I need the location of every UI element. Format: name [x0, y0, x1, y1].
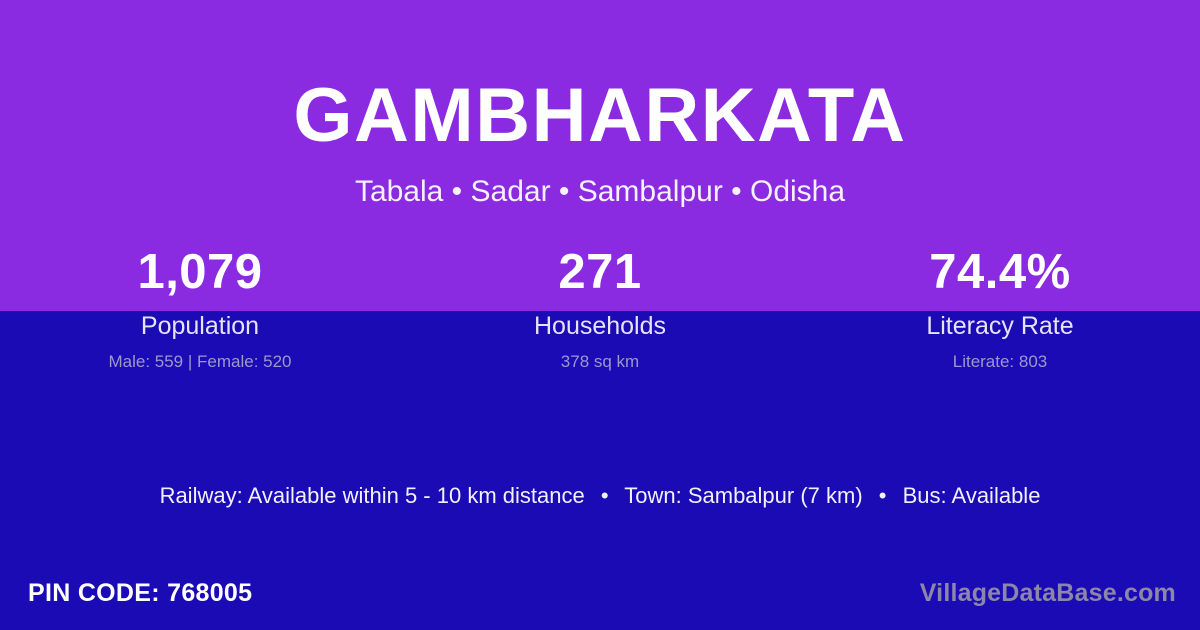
- page-title: GAMBHARKATA: [0, 78, 1200, 154]
- stat-value-households: 271: [400, 248, 800, 304]
- amenity-bus: Bus: Available: [903, 483, 1041, 508]
- page-title-block: GAMBHARKATA Tabala • Sadar • Sambalpur •…: [0, 78, 1200, 207]
- stat-card-households: 271 Households 378 sq km: [400, 248, 800, 370]
- stat-value-population: 1,079: [0, 248, 400, 304]
- stat-card-population: 1,079 Population Male: 559 | Female: 520: [0, 248, 400, 370]
- stat-sub-population: Male: 559 | Female: 520: [0, 353, 400, 370]
- stat-sub-literacy-rate: Literate: 803: [800, 353, 1200, 370]
- stat-value-literacy-rate: 74.4%: [800, 248, 1200, 304]
- amenity-separator-2: •: [869, 483, 897, 508]
- footer-row: PIN CODE: 768005 VillageDataBase.com: [0, 576, 1200, 610]
- stat-card-literacy-rate: 74.4% Literacy Rate Literate: 803: [800, 248, 1200, 370]
- amenity-town: Town: Sambalpur (7 km): [624, 483, 862, 508]
- stat-label-literacy-rate: Literacy Rate: [800, 314, 1200, 339]
- brand-watermark: VillageDataBase.com: [920, 576, 1176, 610]
- breadcrumb: Tabala • Sadar • Sambalpur • Odisha: [0, 177, 1200, 207]
- amenities-row: Railway: Available within 5 - 10 km dist…: [0, 485, 1200, 507]
- amenity-railway: Railway: Available within 5 - 10 km dist…: [160, 483, 585, 508]
- village-info-card: GAMBHARKATA Tabala • Sadar • Sambalpur •…: [0, 0, 1200, 630]
- stat-label-population: Population: [0, 314, 400, 339]
- amenity-separator-1: •: [591, 483, 619, 508]
- stat-sub-households: 378 sq km: [400, 353, 800, 370]
- pin-code: PIN CODE: 768005: [28, 576, 252, 610]
- stat-label-households: Households: [400, 314, 800, 339]
- stats-row: 1,079 Population Male: 559 | Female: 520…: [0, 248, 1200, 370]
